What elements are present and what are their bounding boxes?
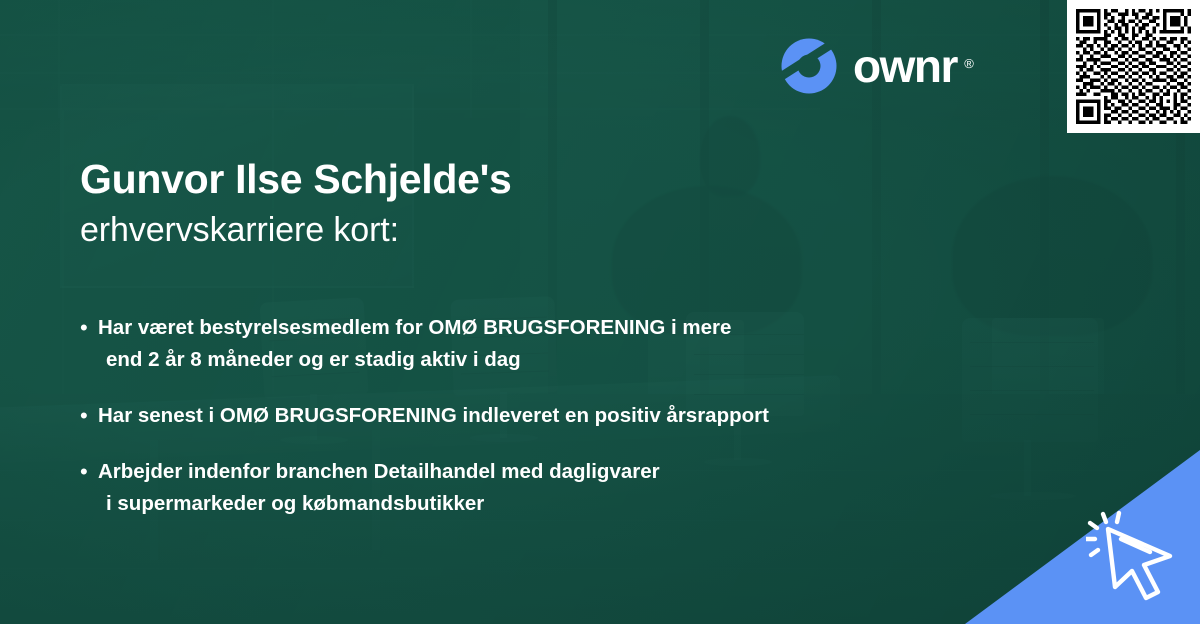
bullet-marker: • — [80, 400, 98, 432]
bullet-marker: • — [80, 312, 98, 344]
page-title: Gunvor Ilse Schjelde's erhvervskarriere … — [80, 155, 820, 252]
list-item: • Arbejder indenfor branchen Detailhande… — [80, 456, 1040, 520]
registered-mark: ® — [964, 41, 974, 87]
list-item: • Har været bestyrelsesmedlem for OMØ BR… — [80, 312, 1040, 376]
ownr-circle-swoosh-icon — [779, 36, 839, 96]
bullet-marker: • — [80, 456, 98, 488]
wordmark-text: ownr — [853, 40, 957, 92]
headline-subtitle: erhvervskarriere kort: — [80, 209, 820, 252]
click-cursor-icon — [1086, 508, 1186, 608]
list-item-text: Har senest i OMØ BRUGSFORENING indlevere… — [98, 400, 769, 432]
ownr-wordmark: ownr® — [853, 43, 957, 89]
list-item-line1: Har senest i OMØ BRUGSFORENING indlevere… — [98, 404, 769, 427]
list-item-line1: Arbejder indenfor branchen Detailhandel … — [98, 460, 660, 483]
list-item: • Har senest i OMØ BRUGSFORENING indleve… — [80, 400, 1040, 432]
business-career-card: ownr® Gunvor Ilse Schjelde's erhvervskar… — [0, 0, 1200, 624]
career-bullet-list: • Har været bestyrelsesmedlem for OMØ BR… — [80, 312, 1040, 544]
card-content: ownr® Gunvor Ilse Schjelde's erhvervskar… — [0, 0, 1200, 624]
list-item-line2: i supermarkeder og købmandsbutikker — [98, 488, 660, 520]
list-item-text: Arbejder indenfor branchen Detailhandel … — [98, 456, 660, 520]
list-item-text: Har været bestyrelsesmedlem for OMØ BRUG… — [98, 312, 731, 376]
list-item-line2: end 2 år 8 måneder og er stadig aktiv i … — [98, 344, 731, 376]
qr-code-panel[interactable] — [1067, 0, 1200, 133]
list-item-line1: Har været bestyrelsesmedlem for OMØ BRUG… — [98, 316, 731, 339]
ownr-logo[interactable]: ownr® — [779, 36, 957, 96]
qr-code — [1076, 9, 1191, 124]
headline-name: Gunvor Ilse Schjelde's — [80, 155, 820, 203]
